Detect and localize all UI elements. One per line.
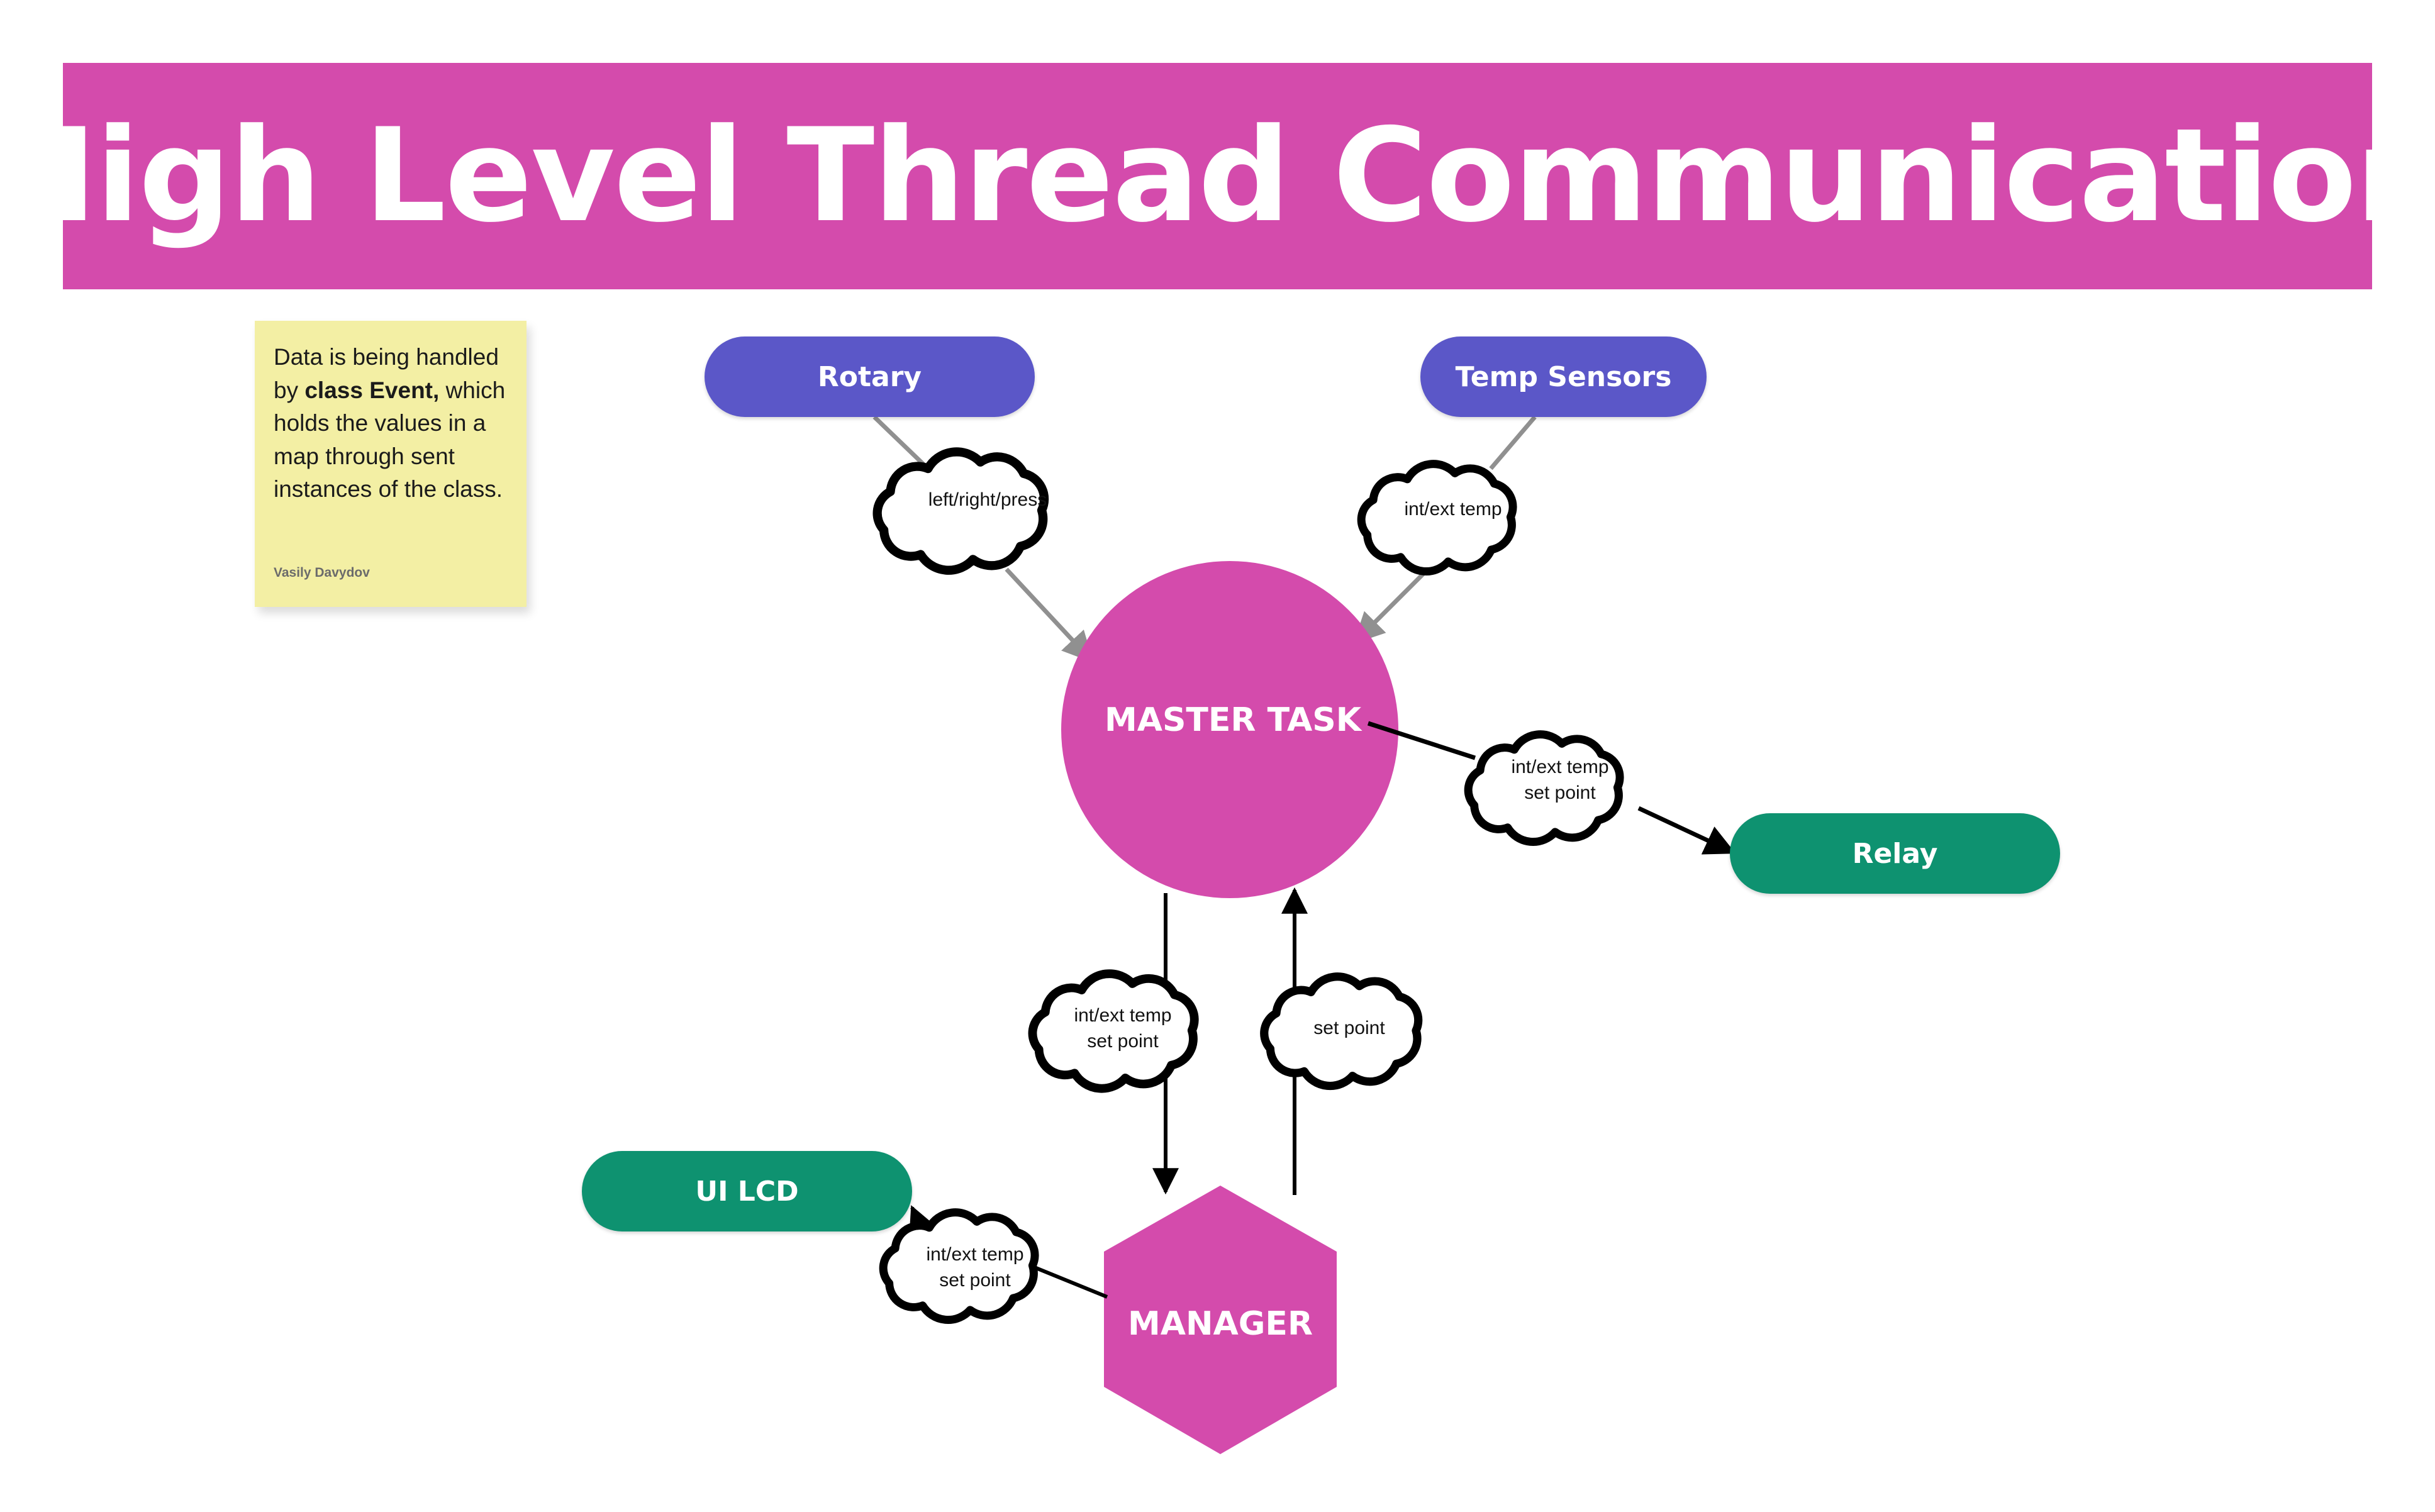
edge-cloud-to-master-task xyxy=(1006,569,1091,660)
edge-rotary-to-cloud xyxy=(874,417,925,465)
cloud-label-manager-up-msg: set point xyxy=(1255,1016,1444,1042)
cloud-label-rotary-msg: left/right/press xyxy=(893,487,1082,513)
cloud-label-relay-msg: int/ext temp set point xyxy=(1466,755,1654,806)
node-manager-label: MANAGER xyxy=(1104,1305,1337,1343)
node-rotary[interactable]: Rotary xyxy=(705,336,1035,417)
node-ui-lcd-label: UI LCD xyxy=(695,1176,798,1208)
node-rotary-label: Rotary xyxy=(818,361,922,393)
diagram-canvas xyxy=(0,0,2435,1512)
node-relay-label: Relay xyxy=(1853,838,1938,870)
node-ui-lcd[interactable]: UI LCD xyxy=(582,1151,912,1231)
node-relay[interactable]: Relay xyxy=(1730,813,2060,894)
cloud-label-temp-msg: int/ext temp xyxy=(1359,497,1547,523)
node-temp-sensors[interactable]: Temp Sensors xyxy=(1420,336,1707,417)
cloud-label-manager-down-msg: int/ext temp set point xyxy=(1028,1003,1217,1054)
edge-relay-cloud-to-relay xyxy=(1639,808,1733,852)
cloud-label-lcd-msg: int/ext temp set point xyxy=(881,1242,1069,1293)
edge-temp-sensors-to-cloud xyxy=(1491,417,1535,469)
node-temp-sensors-label: Temp Sensors xyxy=(1456,361,1672,393)
edge-cloud-to-master-task-2 xyxy=(1356,569,1428,642)
node-master-task-label: MASTER TASK xyxy=(1069,701,1396,739)
